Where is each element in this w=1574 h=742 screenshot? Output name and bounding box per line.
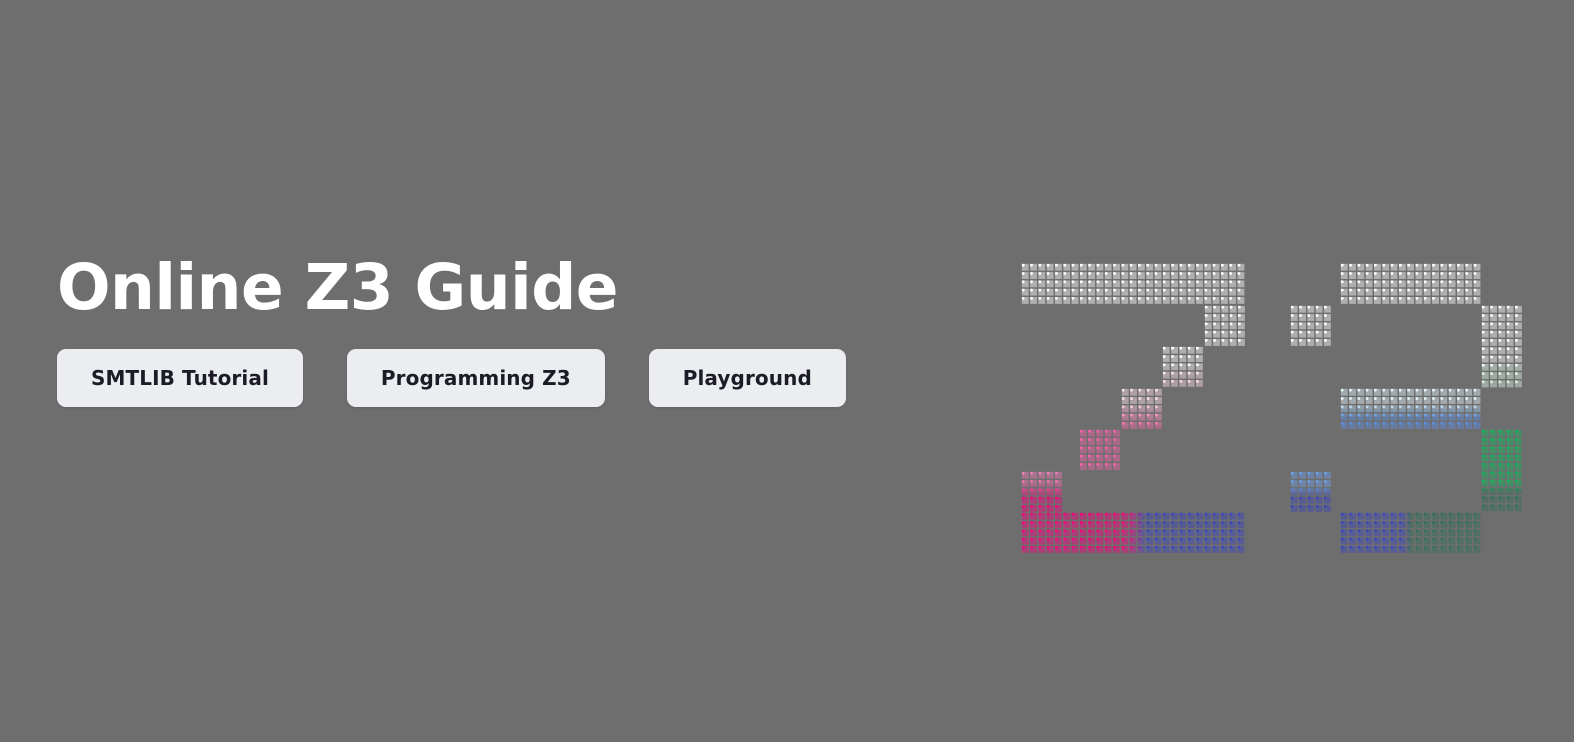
three-right-upper xyxy=(1481,305,1523,388)
playground-button[interactable]: Playground xyxy=(649,349,846,407)
z-bottom-bar xyxy=(1021,512,1245,554)
z-step-4 xyxy=(1079,429,1121,471)
z-step-1 xyxy=(1204,305,1246,347)
z-step-3 xyxy=(1121,388,1163,430)
z-step-2 xyxy=(1162,346,1204,388)
page-title: Online Z3 Guide xyxy=(57,255,957,321)
three-bottom-bar xyxy=(1340,512,1481,554)
three-right-lower xyxy=(1481,429,1523,512)
hero-section: Online Z3 Guide SMTLIB Tutorial Programm… xyxy=(0,0,1574,742)
programming-z3-button[interactable]: Programming Z3 xyxy=(347,349,605,407)
z3-tile-logo xyxy=(1021,263,1521,583)
hero-content: Online Z3 Guide SMTLIB Tutorial Programm… xyxy=(57,255,957,407)
three-top-bar xyxy=(1340,263,1481,305)
three-middle-bar xyxy=(1340,388,1481,430)
three-left-lower xyxy=(1290,471,1332,513)
z-top-bar xyxy=(1021,263,1245,305)
z-step-5 xyxy=(1021,471,1063,513)
smtlib-tutorial-button[interactable]: SMTLIB Tutorial xyxy=(57,349,303,407)
three-left-stub xyxy=(1290,305,1332,347)
hero-button-group: SMTLIB Tutorial Programming Z3 Playgroun… xyxy=(57,349,957,407)
